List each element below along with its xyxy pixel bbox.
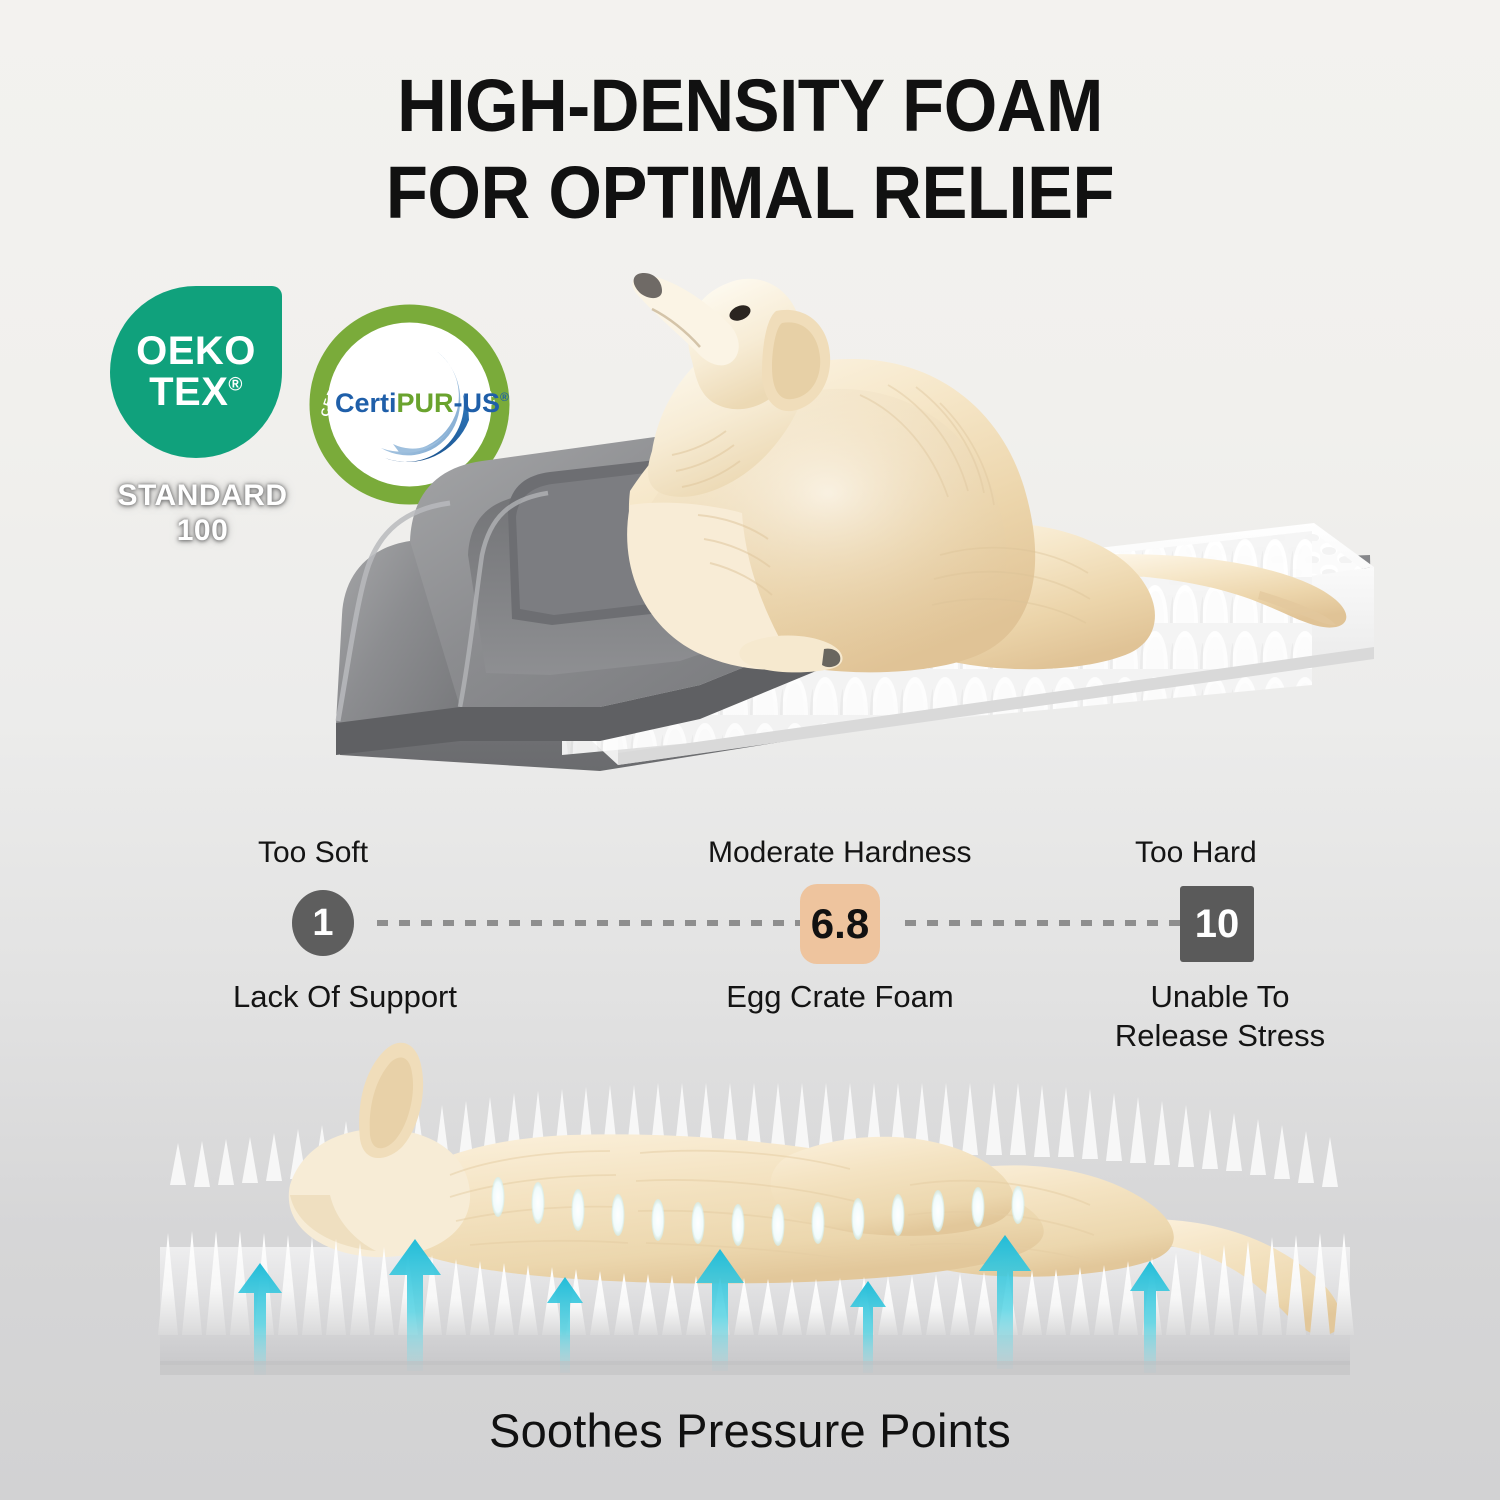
product-photo-dog-on-bed xyxy=(300,255,1380,815)
scale-bottom-label-0: Lack Of Support xyxy=(190,978,500,1017)
scale-top-label-1: Moderate Hardness xyxy=(708,836,971,870)
oeko-tex-line1: OEKO xyxy=(136,331,256,372)
oeko-tex-line2: TEX® xyxy=(149,371,243,413)
bottom-caption: Soothes Pressure Points xyxy=(0,1403,1500,1458)
hardness-scale: Too Soft Moderate Hardness Too Hard 1 6.… xyxy=(150,836,1380,1051)
oeko-tex-droplet-icon: OEKO TEX® xyxy=(110,286,282,458)
page-title: HIGH-DENSITY FOAM FOR OPTIMAL RELIEF xyxy=(53,62,1448,237)
scale-marker-10[interactable]: 10 xyxy=(1180,886,1254,962)
pressure-point-illustration xyxy=(150,1035,1360,1390)
scale-marker-1[interactable]: 1 xyxy=(292,890,354,956)
scale-track xyxy=(315,920,1220,926)
scale-bottom-label-1: Egg Crate Foam xyxy=(685,978,995,1017)
scale-top-label-2: Too Hard xyxy=(1135,836,1257,870)
scale-marker-6-8[interactable]: 6.8 xyxy=(800,884,880,964)
scale-dash-left xyxy=(377,920,825,926)
oeko-tex-badge: OEKO TEX® STANDARD 100 xyxy=(110,286,295,549)
oeko-tex-standard-label: STANDARD 100 xyxy=(110,478,295,549)
scale-top-label-0: Too Soft xyxy=(258,836,368,870)
